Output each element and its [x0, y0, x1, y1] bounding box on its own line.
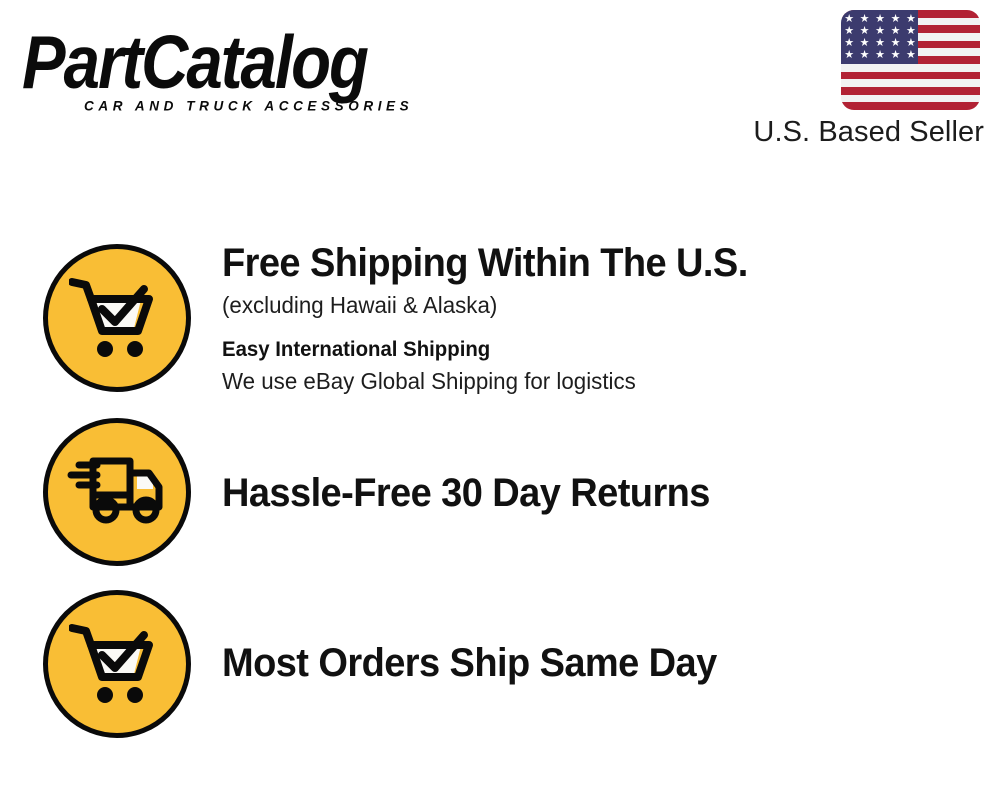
flag-star: ★ [844, 15, 853, 24]
feature-subheading: Easy International Shipping [222, 336, 969, 364]
brand-name: PartCatalog [22, 22, 497, 102]
flag-star-row: ★ ★ ★ ★ ★ [841, 15, 918, 24]
shopping-cart-check-icon [43, 590, 191, 738]
shopping-cart-check-glyph [69, 621, 165, 707]
delivery-truck-icon [43, 418, 191, 566]
flag-star: ★ [906, 39, 915, 48]
flag-stripe [841, 87, 980, 95]
brand-logo: PartCatalog CAR AND TRUCK ACCESSORIES [22, 22, 502, 112]
feature-text-column: Most Orders Ship Same Day [222, 640, 992, 686]
feature-row-free-shipping: Free Shipping Within The U.S. (excluding… [0, 240, 1000, 410]
flag-star: ★ [860, 27, 869, 36]
us-flag-icon: ★ ★ ★ ★ ★ ★ ★ ★ ★ ★ ★ ★ [841, 10, 980, 110]
feature-heading: Hassle-Free 30 Day Returns [222, 470, 954, 516]
flag-star: ★ [891, 27, 900, 36]
flag-star: ★ [875, 39, 884, 48]
flag-star: ★ [875, 51, 884, 60]
feature-row-returns: Hassle-Free 30 Day Returns [0, 418, 1000, 568]
feature-heading: Free Shipping Within The U.S. [222, 240, 954, 286]
flag-star: ★ [844, 39, 853, 48]
feature-text-column: Hassle-Free 30 Day Returns [222, 470, 992, 516]
flag-star: ★ [906, 27, 915, 36]
flag-star: ★ [875, 15, 884, 24]
shopping-cart-check-glyph [69, 275, 165, 361]
flag-canton: ★ ★ ★ ★ ★ ★ ★ ★ ★ ★ ★ ★ [841, 10, 918, 64]
us-based-seller-label: U.S. Based Seller [753, 114, 984, 150]
flag-star-row: ★ ★ ★ ★ ★ [841, 51, 918, 60]
flag-star: ★ [860, 39, 869, 48]
flag-stripe [841, 72, 980, 80]
feature-heading: Most Orders Ship Same Day [222, 640, 954, 686]
flag-star: ★ [844, 51, 853, 60]
feature-text-column: Free Shipping Within The U.S. (excluding… [222, 240, 992, 396]
flag-star: ★ [860, 51, 869, 60]
feature-note: (excluding Hawaii & Alaska) [222, 290, 969, 320]
flag-star-row: ★ ★ ★ ★ ★ [841, 39, 918, 48]
flag-star: ★ [906, 51, 915, 60]
seller-info-banner: PartCatalog CAR AND TRUCK ACCESSORIES [0, 0, 1000, 800]
delivery-truck-glyph [67, 455, 167, 529]
us-flag-graphic: ★ ★ ★ ★ ★ ★ ★ ★ ★ ★ ★ ★ [841, 10, 980, 110]
flag-star: ★ [844, 27, 853, 36]
flag-star-row: ★ ★ ★ ★ ★ [841, 27, 918, 36]
flag-star: ★ [875, 27, 884, 36]
flag-star: ★ [891, 15, 900, 24]
flag-star: ★ [891, 39, 900, 48]
flag-stripe [841, 95, 980, 103]
flag-stripe [841, 102, 980, 110]
flag-star: ★ [860, 15, 869, 24]
brand-tagline: CAR AND TRUCK ACCESSORIES [84, 98, 413, 115]
feature-row-same-day-ship: Most Orders Ship Same Day [0, 590, 1000, 742]
banner-header: PartCatalog CAR AND TRUCK ACCESSORIES [0, 0, 1000, 170]
flag-stripe [841, 79, 980, 87]
flag-stripe [841, 64, 980, 72]
flag-star: ★ [906, 15, 915, 24]
feature-subtext: We use eBay Global Shipping for logistic… [222, 366, 969, 396]
flag-star: ★ [891, 51, 900, 60]
shopping-cart-check-icon [43, 244, 191, 392]
